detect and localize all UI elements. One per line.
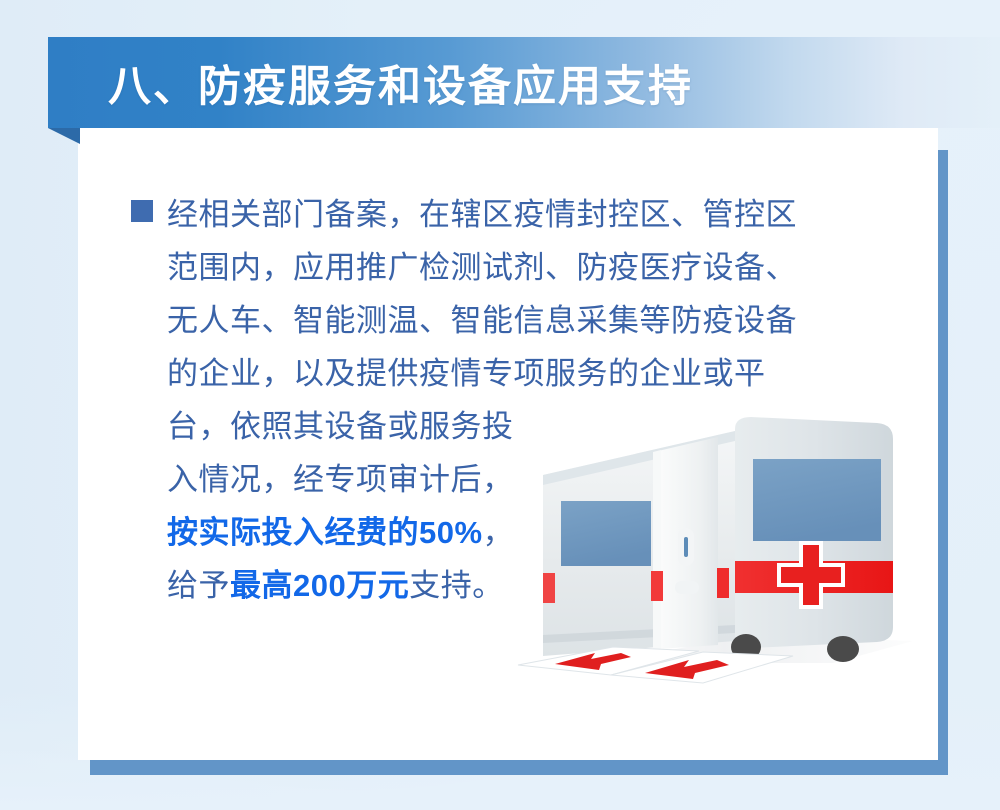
highlight-percentage: 按实际投入经费的50%	[167, 515, 483, 550]
paragraph-line-6: 入情况，经专项审计后，	[167, 453, 906, 506]
paragraph-line-8-suffix: 支持。	[409, 568, 504, 603]
content-text-block: 经相关部门备案，在辖区疫情封控区、管控区 范围内，应用推广检测试剂、防疫医疗设备…	[131, 188, 906, 612]
paragraph-line-8-prefix: 给予	[167, 568, 230, 603]
paragraph-line-8: 给予最高200万元支持。	[167, 559, 906, 612]
infographic-page: 经相关部门备案，在辖区疫情封控区、管控区 范围内，应用推广检测试剂、防疫医疗设备…	[0, 0, 1000, 810]
content-card: 经相关部门备案，在辖区疫情封控区、管控区 范围内，应用推广检测试剂、防疫医疗设备…	[78, 128, 938, 760]
paragraph-line-7: 按实际投入经费的50%，	[167, 506, 906, 559]
wheel-front	[827, 636, 859, 662]
paragraph-line-1: 经相关部门备案，在辖区疫情封控区、管控区	[167, 188, 906, 241]
paragraph-line-3: 无人车、智能测温、智能信息采集等防疫设备	[167, 294, 906, 347]
section-header-banner: 八、防疫服务和设备应用支持	[48, 37, 1000, 128]
page-title: 八、防疫服务和设备应用支持	[108, 52, 693, 114]
paragraph-line-7-suffix: ，	[483, 515, 515, 550]
paragraph-line-5: 台，依照其设备或服务投	[167, 400, 906, 453]
bullet-square-icon	[131, 200, 153, 222]
banner-fold-corner	[48, 128, 80, 144]
paragraph-line-2: 范围内，应用推广检测试剂、防疫医疗设备、	[167, 241, 906, 294]
highlight-amount: 最高200万元	[230, 568, 409, 603]
policy-paragraph: 经相关部门备案，在辖区疫情封控区、管控区 范围内，应用推广检测试剂、防疫医疗设备…	[167, 188, 906, 612]
paragraph-line-4: 的企业，以及提供疫情专项服务的企业或平	[167, 347, 906, 400]
